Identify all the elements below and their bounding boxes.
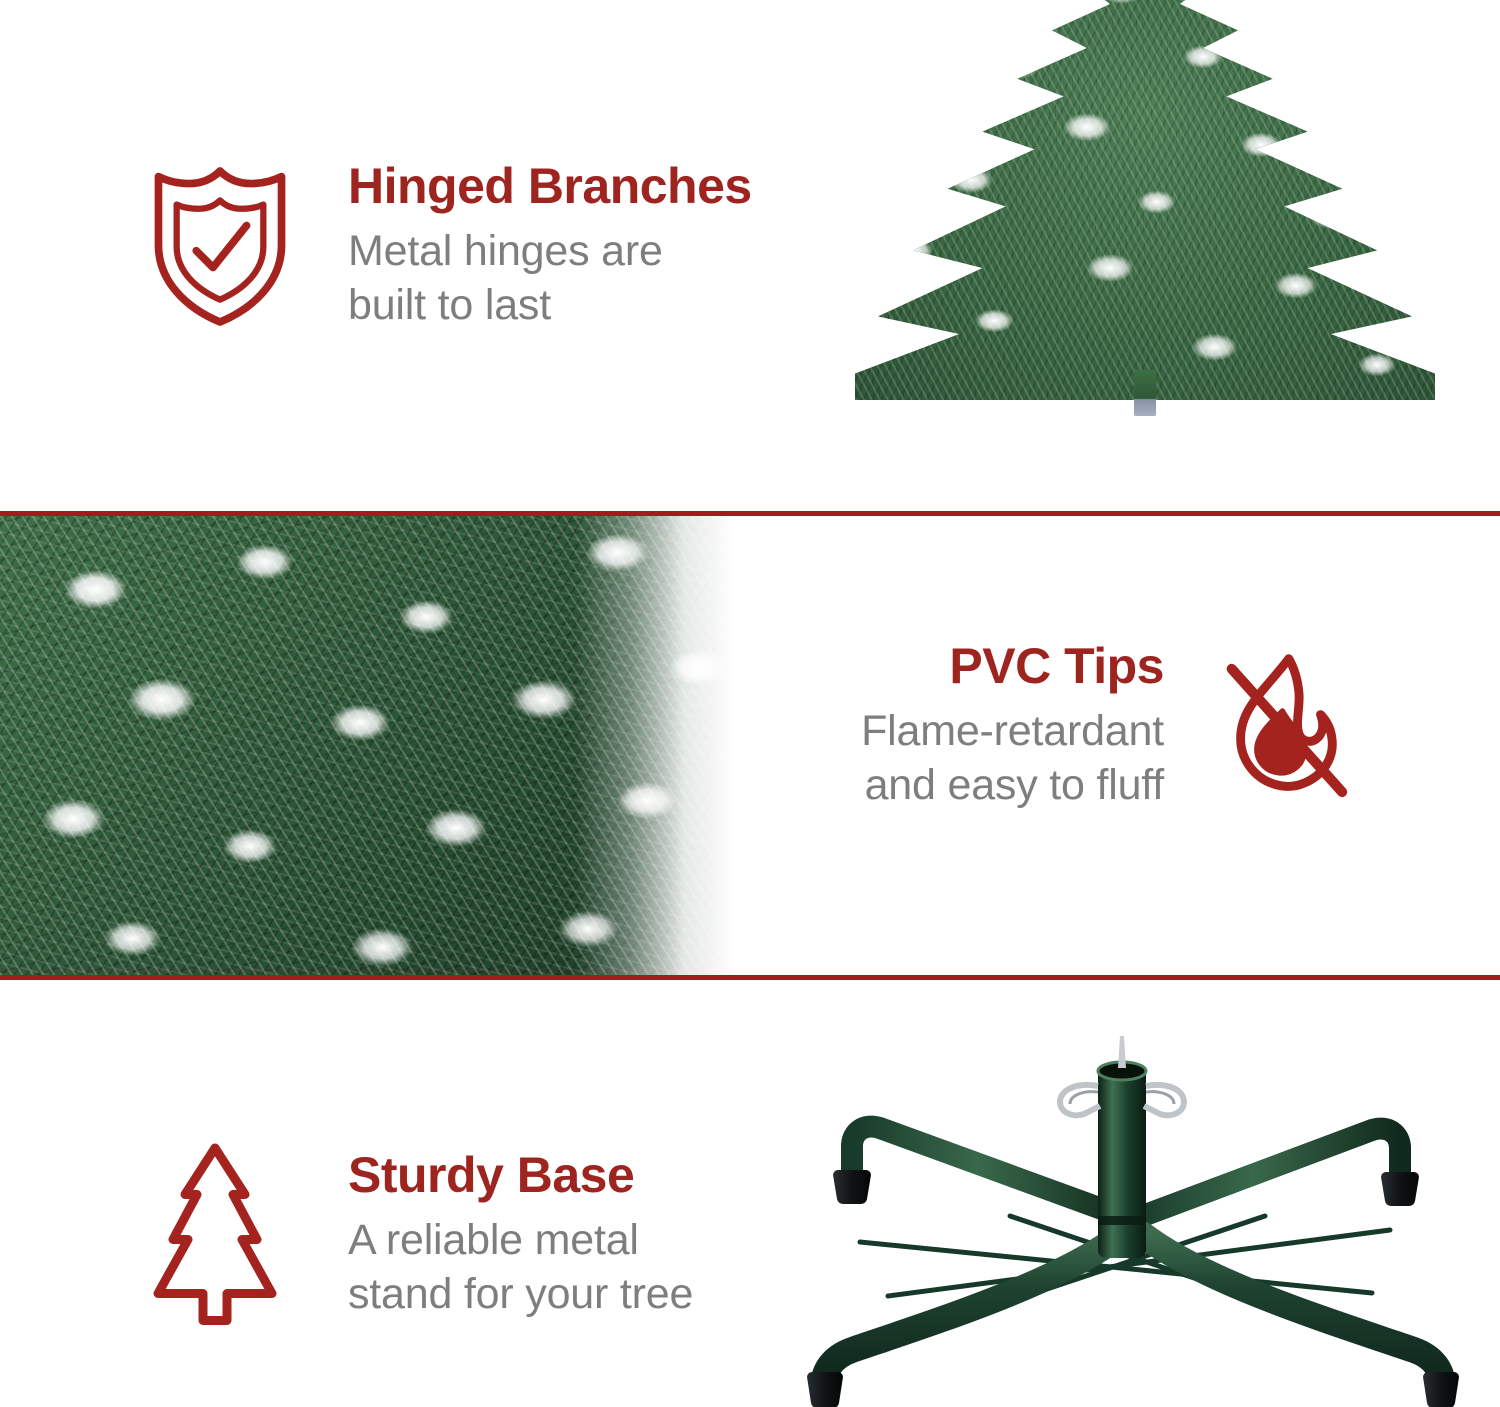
feature-text-block: PVC Tips Flame-retardant and easy to flu…	[861, 640, 1164, 812]
divider-line-bottom	[0, 975, 1500, 980]
feature-hinged-branches: Hinged Branches Metal hinges are built t…	[140, 160, 860, 332]
photo-metal-tree-stand	[760, 1020, 1500, 1407]
photo-flocked-tree-top	[855, 0, 1435, 460]
feature-title: Hinged Branches	[348, 160, 752, 212]
feature-title: PVC Tips	[949, 640, 1164, 692]
feature-description: Flame-retardant and easy to fluff	[861, 704, 1164, 812]
feature-description: Metal hinges are built to last	[348, 224, 752, 332]
feature-description: A reliable metal stand for your tree	[348, 1213, 693, 1321]
feature-infographic: Hinged Branches Metal hinges are built t…	[0, 0, 1500, 1407]
tree-pole	[1134, 370, 1156, 416]
feature-title: Sturdy Base	[348, 1149, 693, 1201]
tree-foliage	[855, 0, 1435, 400]
shield-check-icon	[140, 164, 300, 329]
christmas-tree-icon	[130, 1140, 300, 1330]
feature-pvc-tips: PVC Tips Flame-retardant and easy to flu…	[700, 640, 1360, 812]
feature-text-block: Sturdy Base A reliable metal stand for y…	[348, 1149, 693, 1321]
feature-sturdy-base: Sturdy Base A reliable metal stand for y…	[130, 1140, 830, 1330]
divider-line-top	[0, 511, 1500, 516]
feature-text-block: Hinged Branches Metal hinges are built t…	[348, 160, 752, 332]
no-flame-icon	[1210, 651, 1360, 801]
photo-needle-closeup	[0, 516, 735, 975]
